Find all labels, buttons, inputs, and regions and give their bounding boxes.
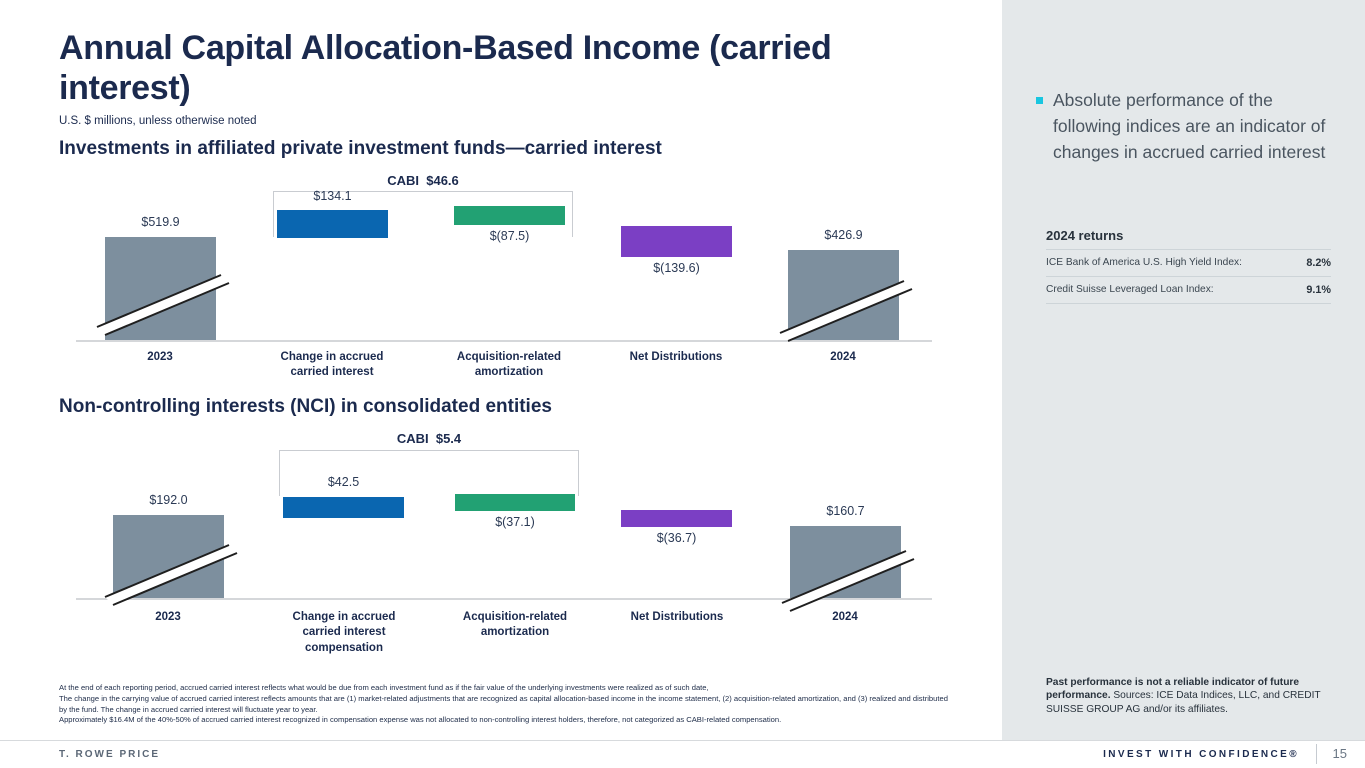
- section-heading-nci: Non-controlling interests (NCI) in conso…: [59, 396, 552, 418]
- category-label-change-accrued-nci: Change in accrued carried interest compe…: [274, 610, 414, 656]
- bar-acquisition-related-amortization-nci: [455, 494, 575, 511]
- bar-net-distributions: [621, 226, 732, 257]
- chart-investments-carried-interest: CABI $46.6: [59, 165, 949, 380]
- value-label-acquisition-amortization: $(87.5): [454, 229, 565, 243]
- value-label-change-accrued-nci: $42.5: [283, 475, 404, 489]
- square-bullet-icon: [1036, 97, 1043, 104]
- cabi-bracket-label: CABI $46.6: [273, 173, 573, 188]
- value-label-2023-nci: $192.0: [113, 493, 224, 507]
- section-heading-investments: Investments in affiliated private invest…: [59, 138, 662, 160]
- footnote-2: The change in the carrying value of accr…: [59, 694, 949, 716]
- footer-brand: T. ROWE PRICE: [59, 749, 160, 760]
- page-number: 15: [1333, 746, 1347, 761]
- value-label-net-distributions: $(139.6): [621, 261, 732, 275]
- sidebar-callout: Absolute performance of the following in…: [1036, 88, 1336, 166]
- footer-page-divider: [1316, 744, 1317, 764]
- footnote-1: At the end of each reporting period, acc…: [59, 683, 949, 694]
- bar-2023-nci: [113, 515, 224, 598]
- bar-change-in-accrued-carried-interest: [277, 210, 388, 238]
- bar-2024: [788, 250, 899, 340]
- category-label-net-distributions: Net Distributions: [606, 350, 746, 365]
- value-label-2024: $426.9: [788, 228, 899, 242]
- bar-net-distributions-nci: [621, 510, 732, 527]
- bar-change-in-accrued-carried-interest-compensation: [283, 497, 404, 518]
- returns-table: 2024 returns ICE Bank of America U.S. Hi…: [1046, 228, 1331, 304]
- sidebar-callout-text: Absolute performance of the following in…: [1053, 88, 1336, 166]
- value-label-acquisition-amortization-nci: $(37.1): [455, 515, 575, 529]
- footnotes: At the end of each reporting period, acc…: [59, 683, 949, 726]
- returns-row-value: 8.2%: [1306, 257, 1331, 269]
- value-label-2024-nci: $160.7: [790, 504, 901, 518]
- cabi-bracket-nci: [279, 450, 579, 496]
- table-row: ICE Bank of America U.S. High Yield Inde…: [1046, 249, 1331, 276]
- chart-nci-consolidated-entities: CABI $5.4: [59, 425, 949, 650]
- returns-row-label: Credit Suisse Leveraged Loan Index:: [1046, 283, 1214, 296]
- footer-divider-line: [0, 740, 1365, 741]
- sidebar-disclaimer: Past performance is not a reliable indic…: [1046, 676, 1346, 716]
- footnote-3: Approximately $16.4M of the 40%-50% of a…: [59, 715, 949, 726]
- chart2-axis: [76, 598, 932, 600]
- category-label-change-accrued: Change in accrued carried interest: [262, 350, 402, 381]
- returns-row-value: 9.1%: [1306, 284, 1331, 296]
- slide: Annual Capital Allocation-Based Income (…: [0, 0, 1365, 768]
- value-label-change-accrued: $134.1: [277, 189, 388, 203]
- units-note: U.S. $ millions, unless otherwise noted: [59, 115, 257, 127]
- slide-main-content: Annual Capital Allocation-Based Income (…: [0, 0, 1002, 768]
- page-title: Annual Capital Allocation-Based Income (…: [59, 28, 939, 108]
- returns-row-label: ICE Bank of America U.S. High Yield Inde…: [1046, 256, 1242, 269]
- category-label-2024: 2024: [783, 350, 903, 365]
- table-row: Credit Suisse Leveraged Loan Index: 9.1%: [1046, 276, 1331, 304]
- category-label-net-distributions-nci: Net Distributions: [607, 610, 747, 625]
- bar-2023: [105, 237, 216, 340]
- returns-table-title: 2024 returns: [1046, 228, 1331, 243]
- bar-acquisition-related-amortization: [454, 206, 565, 225]
- bar-2024-nci: [790, 526, 901, 598]
- value-label-net-distributions-nci: $(36.7): [621, 531, 732, 545]
- value-label-2023: $519.9: [105, 215, 216, 229]
- category-label-2023-nci: 2023: [108, 610, 228, 625]
- chart1-axis: [76, 340, 932, 342]
- footer-tagline: INVEST WITH CONFIDENCE®: [1103, 749, 1299, 760]
- sidebar-panel: Absolute performance of the following in…: [1002, 0, 1365, 740]
- category-label-acquisition-amortization: Acquisition-related amortization: [439, 350, 579, 381]
- category-label-acquisition-amortization-nci: Acquisition-related amortization: [445, 610, 585, 641]
- category-label-2024-nci: 2024: [785, 610, 905, 625]
- category-label-2023: 2023: [100, 350, 220, 365]
- cabi-bracket-label-nci: CABI $5.4: [279, 431, 579, 446]
